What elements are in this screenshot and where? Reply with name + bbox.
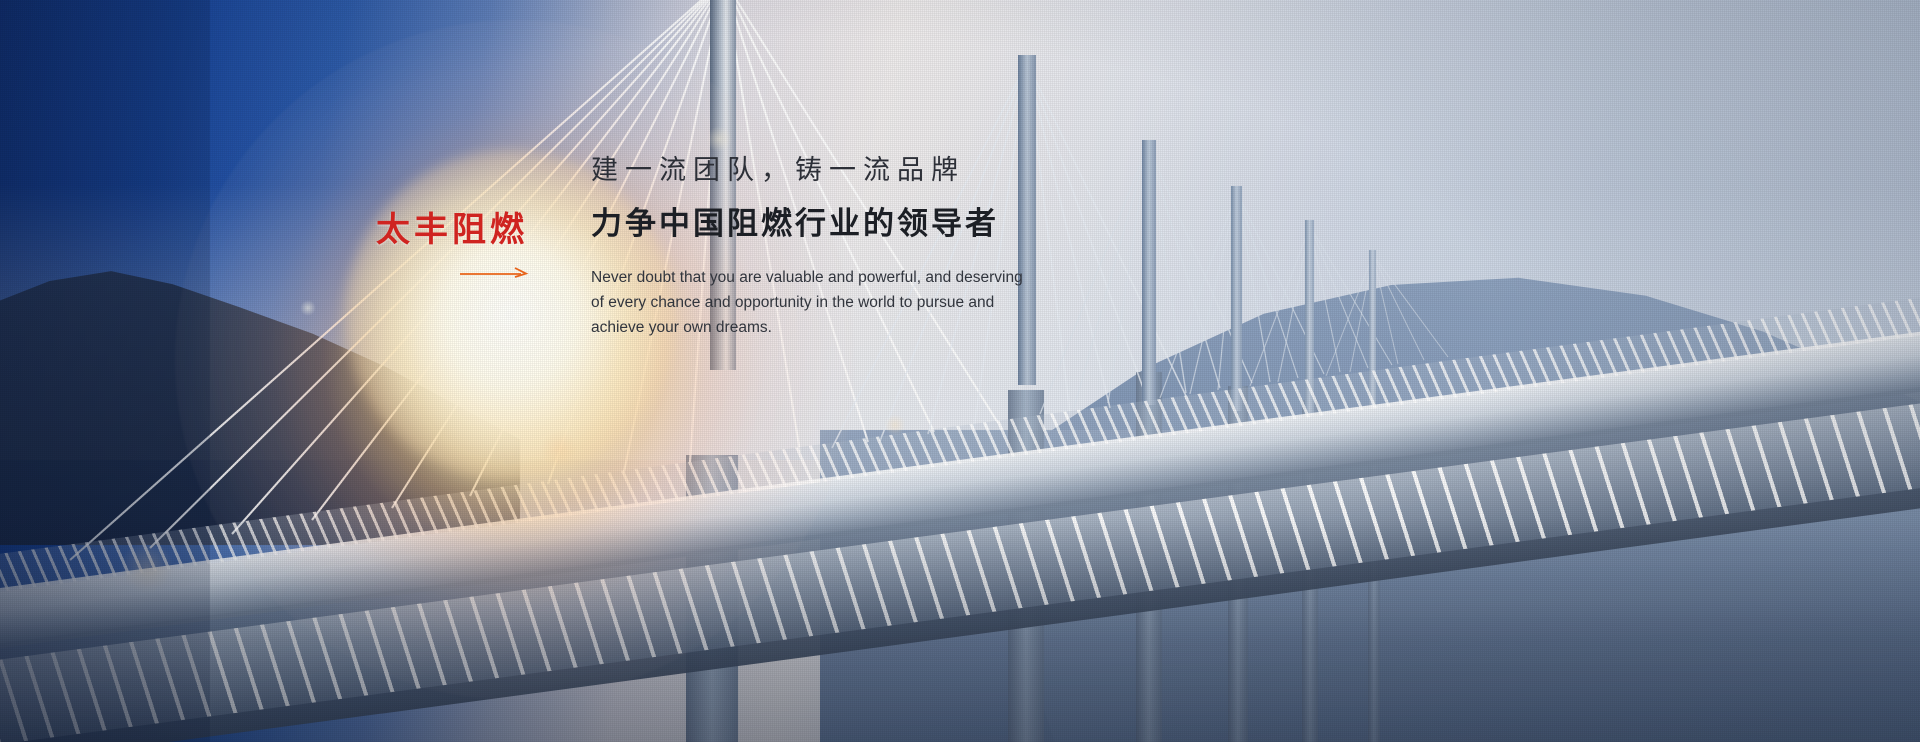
tagline-paragraph: Never doubt that you are valuable and po… (591, 265, 1061, 340)
right-arrow-icon (459, 265, 531, 279)
headline-primary: 建一流团队，铸一流品牌 (591, 155, 1151, 187)
tagline-line-1: Never doubt that you are valuable and po… (591, 265, 1061, 290)
headline-secondary: 力争中国阻燃行业的领导者 (591, 206, 1151, 243)
hero-banner: 太丰阻燃 建一流团队，铸一流品牌 力争中国阻燃行业的领导者 Never doub… (0, 0, 1920, 742)
brand-logo-text: 太丰阻燃 (376, 213, 536, 247)
tagline-line-2: of every chance and opportunity in the w… (591, 290, 1061, 315)
banner-content: 太丰阻燃 建一流团队，铸一流品牌 力争中国阻燃行业的领导者 Never doub… (0, 0, 1920, 742)
tagline-line-3: achieve your own dreams. (591, 315, 1061, 340)
headline-block: 建一流团队，铸一流品牌 力争中国阻燃行业的领导者 Never doubt tha… (591, 155, 1151, 340)
brand-logo[interactable]: 太丰阻燃 (376, 213, 536, 247)
